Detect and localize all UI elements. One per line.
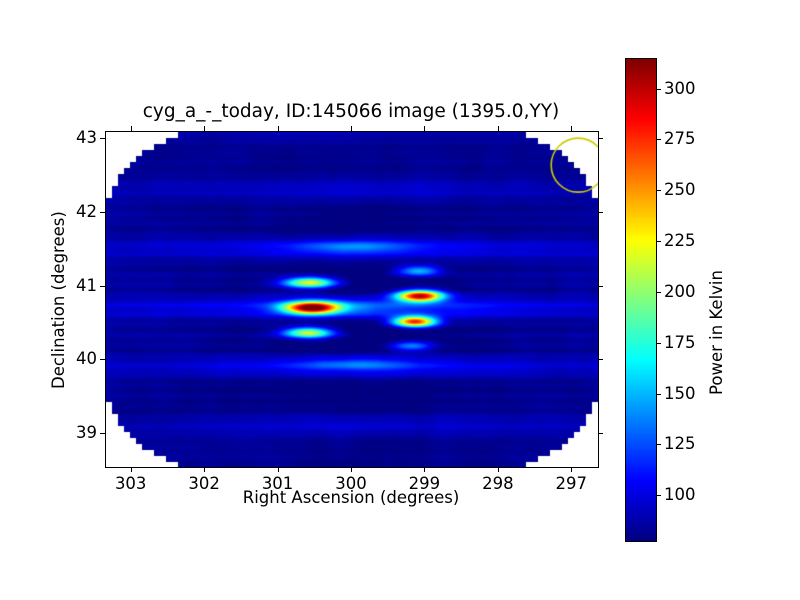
colorbar-tick-label: 150 (664, 384, 696, 404)
annotation-overlay (106, 132, 598, 467)
x-tick-mark-top (498, 126, 499, 131)
y-tick-mark (100, 138, 105, 139)
colorbar-tick-label: 100 (664, 485, 696, 505)
colorbar-tick-mark (656, 241, 661, 242)
colorbar-tick-mark (656, 394, 661, 395)
y-axis-label: Declination (degrees) (48, 211, 70, 389)
y-tick-mark-right (598, 138, 603, 139)
y-tick-mark-right (598, 433, 603, 434)
image-axes[interactable] (105, 131, 599, 468)
y-tick-mark (100, 433, 105, 434)
colorbar-tick-mark (656, 495, 661, 496)
x-tick-mark (131, 467, 132, 472)
x-tick-mark-top (278, 126, 279, 131)
colorbar-tick-mark (656, 444, 661, 445)
page-title: cyg_a_-_today, ID:145066 image (1395.0,Y… (105, 100, 597, 124)
colorbar-tick-mark (656, 292, 661, 293)
y-tick-label: 43 (43, 128, 97, 148)
x-tick-mark-top (571, 126, 572, 131)
colorbar-tick-label: 175 (664, 333, 696, 353)
x-tick-mark (204, 467, 205, 472)
colorbar-label: Power in Kelvin (706, 270, 728, 395)
figure-canvas: cyg_a_-_today, ID:145066 image (1395.0,Y… (0, 0, 800, 600)
x-tick-mark (571, 467, 572, 472)
y-tick-label: 39 (43, 423, 97, 443)
colorbar-gradient (626, 59, 656, 541)
x-tick-mark-top (131, 126, 132, 131)
colorbar-tick-label: 200 (664, 282, 696, 302)
colorbar[interactable] (625, 58, 657, 542)
colorbar-tick-label: 125 (664, 434, 696, 454)
x-axis-label: Right Ascension (degrees) (105, 487, 597, 509)
y-tick-mark (100, 286, 105, 287)
colorbar-tick-label: 225 (664, 231, 696, 251)
colorbar-tick-mark (656, 343, 661, 344)
x-tick-mark-top (424, 126, 425, 131)
y-tick-mark-right (598, 359, 603, 360)
colorbar-tick-label: 300 (664, 79, 696, 99)
colorbar-tick-mark (656, 89, 661, 90)
y-tick-mark (100, 212, 105, 213)
colorbar-tick-mark (656, 139, 661, 140)
x-tick-mark (424, 467, 425, 472)
y-tick-mark (100, 359, 105, 360)
colorbar-tick-label: 275 (664, 129, 696, 149)
x-tick-mark (278, 467, 279, 472)
x-tick-mark-top (204, 126, 205, 131)
colorbar-tick-mark (656, 190, 661, 191)
colorbar-tick-label: 250 (664, 180, 696, 200)
x-tick-mark-top (351, 126, 352, 131)
x-tick-mark (498, 467, 499, 472)
y-tick-mark-right (598, 212, 603, 213)
x-tick-mark (351, 467, 352, 472)
y-tick-mark-right (598, 286, 603, 287)
